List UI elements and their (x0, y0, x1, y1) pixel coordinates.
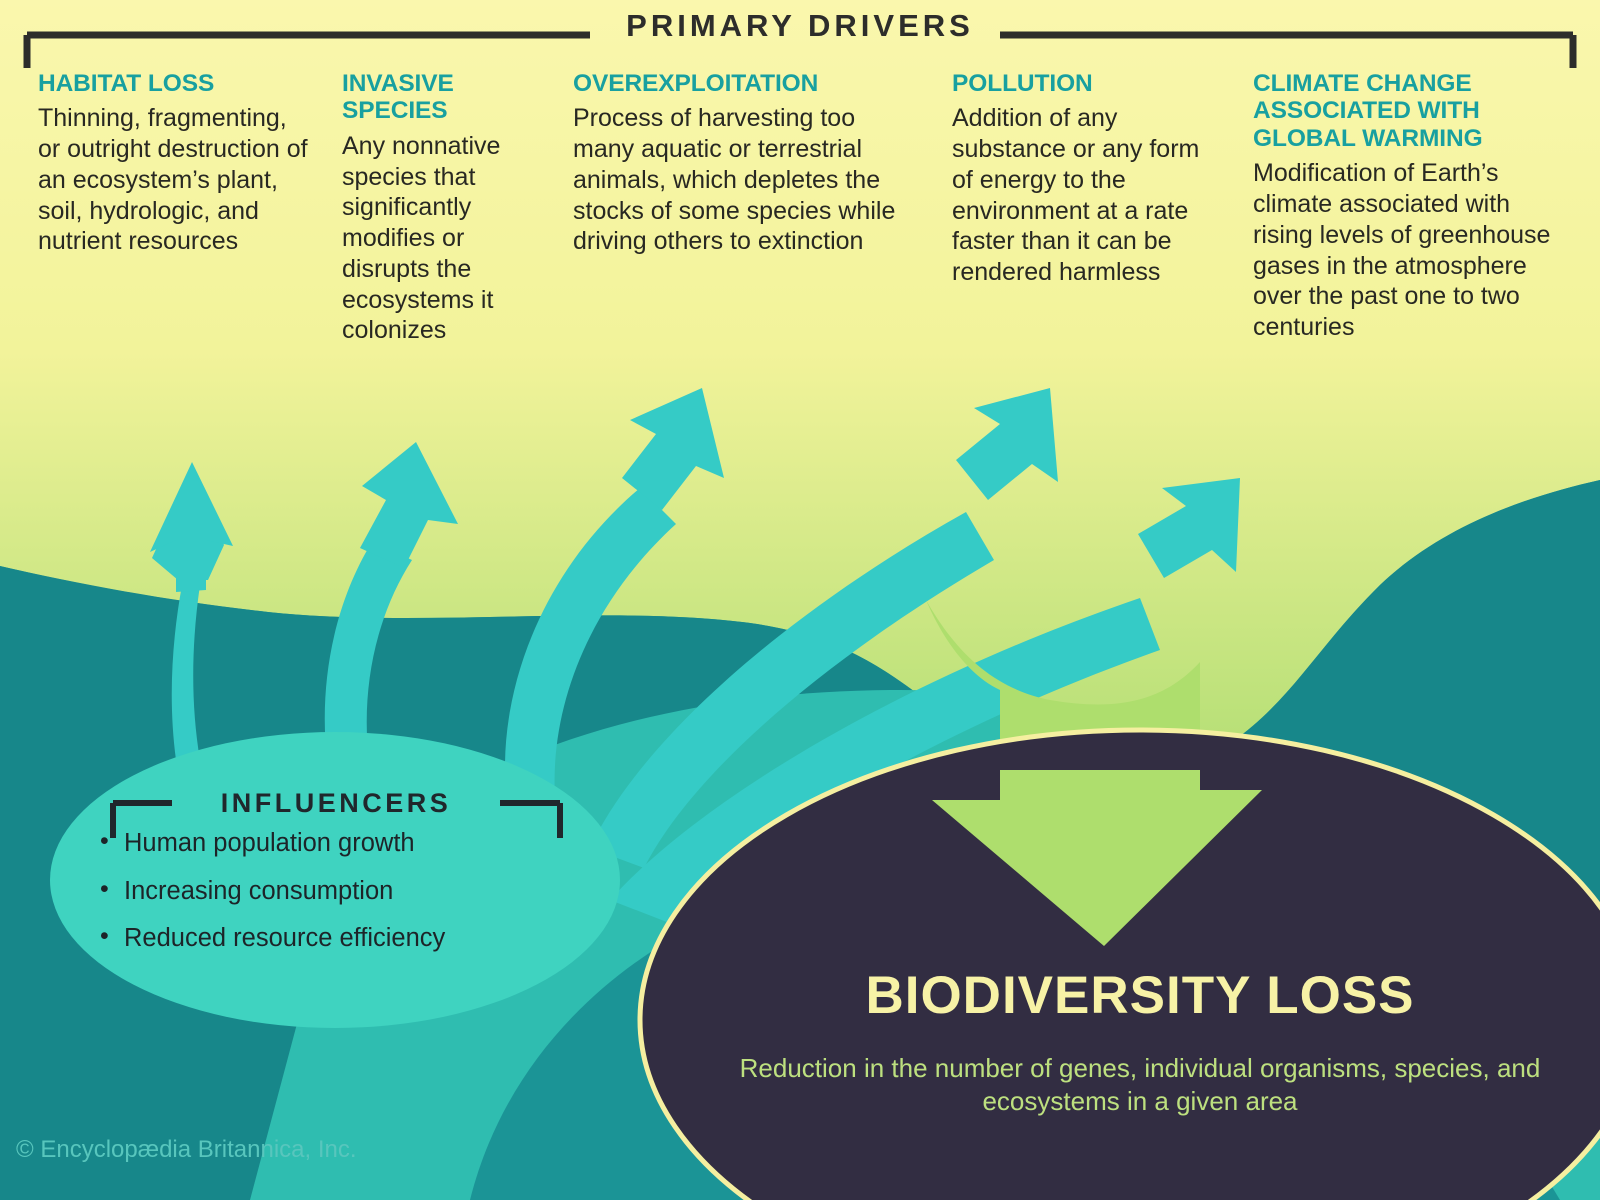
driver-title-invasive-species: INVASIVE SPECIES (342, 70, 557, 125)
list-item: Reduced resource efficiency (96, 926, 576, 974)
driver-column-climate-change: CLIMATE CHANGE ASSOCIATED WITH GLOBAL WA… (1253, 70, 1553, 343)
driver-column-pollution: POLLUTION Addition of any substance or a… (952, 70, 1217, 288)
driver-title-pollution: POLLUTION (952, 70, 1217, 97)
driver-title-overexploitation: OVEREXPLOITATION (573, 70, 903, 97)
driver-column-invasive-species: INVASIVE SPECIES Any nonnative species t… (342, 70, 557, 346)
driver-desc-habitat-loss: Thinning, fragmenting, or outright destr… (38, 103, 308, 257)
driver-desc-climate-change: Modification of Earth’s climate associat… (1253, 158, 1553, 343)
driver-desc-overexploitation: Process of harvesting too many aquatic o… (573, 103, 903, 257)
driver-column-overexploitation: OVEREXPLOITATION Process of harvesting t… (573, 70, 903, 257)
driver-desc-pollution: Addition of any substance or any form of… (952, 103, 1217, 288)
influencers-panel: INFLUENCERS Human population growth Incr… (96, 788, 576, 974)
list-item: Human population growth (96, 831, 576, 879)
list-item: Increasing consumption (96, 879, 576, 927)
outcome-subtitle: Reduction in the number of genes, indivi… (700, 1052, 1580, 1119)
text-layer: PRIMARY DRIVERS HABITAT LOSS Thinning, f… (0, 0, 1600, 1200)
driver-title-habitat-loss: HABITAT LOSS (38, 70, 308, 97)
page-title: PRIMARY DRIVERS (0, 8, 1600, 44)
outcome-title: BIODIVERSITY LOSS (700, 965, 1580, 1026)
infographic-canvas: PRIMARY DRIVERS HABITAT LOSS Thinning, f… (0, 0, 1600, 1200)
influencers-title: INFLUENCERS (96, 788, 576, 821)
influencers-list: Human population growth Increasing consu… (96, 831, 576, 974)
driver-title-climate-change: CLIMATE CHANGE ASSOCIATED WITH GLOBAL WA… (1253, 70, 1553, 152)
copyright-credit: © Encyclopædia Britannica, Inc. (16, 1136, 357, 1164)
driver-desc-invasive-species: Any nonnative species that significantly… (342, 131, 557, 346)
driver-column-habitat-loss: HABITAT LOSS Thinning, fragmenting, or o… (38, 70, 308, 257)
